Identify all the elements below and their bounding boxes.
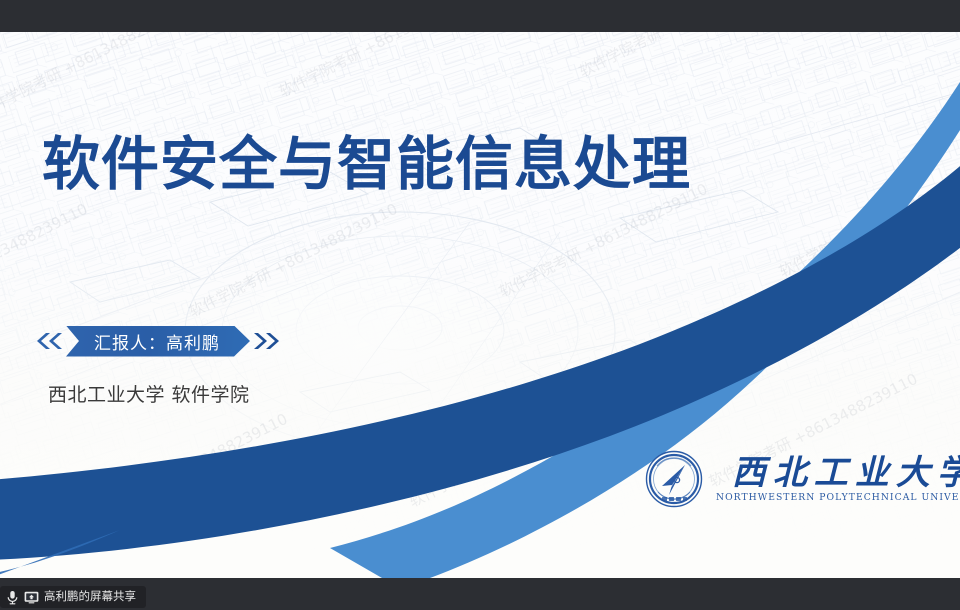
microphone-icon[interactable] [6,590,19,605]
left-chevrons-icon [33,331,63,351]
presenter-label: 汇报人：高利鹏 [94,329,220,354]
presenter-ribbon: 汇报人：高利鹏 [66,326,250,357]
screen-share-icon[interactable] [24,591,39,604]
presenter-badge: 汇报人：高利鹏 [33,324,283,358]
affiliation-text: 西北工业大学 软件学院 [48,380,250,407]
slide-title: 软件安全与智能信息处理 [42,132,822,197]
logo-wordmark: 西北工业大学 NORTHWESTERN POLYTECHNICAL UNIVER… [716,456,960,503]
desktop-top-bar [0,0,960,32]
screen-share-taskbar-item[interactable]: 高利鹏的屏幕共享 [0,586,146,608]
logo-english-name: NORTHWESTERN POLYTECHNICAL UNIVERSITY [716,492,960,503]
logo-chinese-name: 西北工业大学 [732,456,960,490]
right-chevrons-icon [253,331,283,351]
npu-seal-icon [645,450,703,508]
university-logo: 西北工业大学 NORTHWESTERN POLYTECHNICAL UNIVER… [645,450,960,508]
presentation-slide: 软件学院考研 +8613488239110 软件学院考研 +8613488239… [0,32,960,578]
screen-capture-view: 软件学院考研 +8613488239110 软件学院考研 +8613488239… [0,0,960,610]
taskbar-item-label: 高利鹏的屏幕共享 [44,591,136,603]
